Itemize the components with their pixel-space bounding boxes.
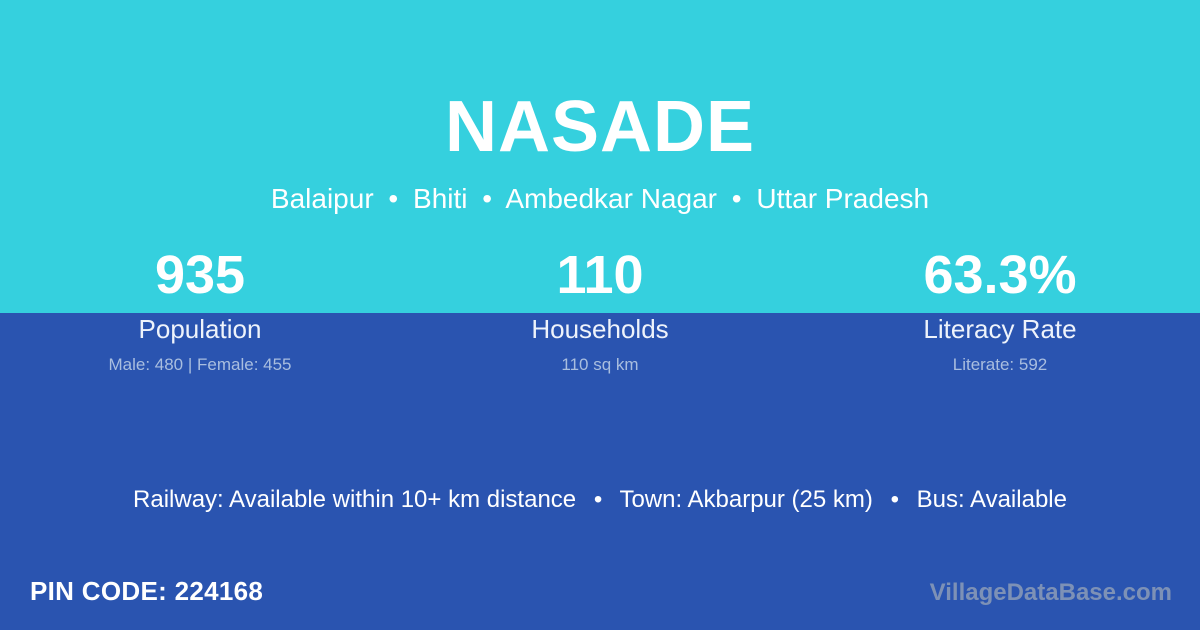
breadcrumb: Balaipur • Bhiti • Ambedkar Nagar • Utta…	[0, 182, 1200, 216]
amenity-bus: Bus: Available	[917, 486, 1067, 513]
stats-row: 935 Population Male: 480 | Female: 455 1…	[0, 243, 1200, 375]
amenity-railway: Railway: Available within 10+ km distanc…	[133, 486, 576, 513]
stat-literacy: 63.3% Literacy Rate Literate: 592	[800, 243, 1200, 375]
breadcrumb-separator-2: •	[475, 183, 499, 214]
amenity-town: Town: Akbarpur (25 km)	[619, 486, 872, 513]
stat-population-label: Population	[0, 314, 400, 344]
stat-population-value: 935	[0, 243, 400, 307]
village-info-card: NASADE Balaipur • Bhiti • Ambedkar Nagar…	[0, 0, 1200, 630]
stat-households-sub: 110 sq km	[400, 354, 800, 375]
amenities-line: Railway: Available within 10+ km distanc…	[0, 485, 1200, 515]
page-title: NASADE	[0, 82, 1200, 172]
breadcrumb-state: Uttar Pradesh	[756, 183, 929, 214]
stat-literacy-label: Literacy Rate	[800, 314, 1200, 344]
breadcrumb-block: Bhiti	[413, 183, 467, 214]
stat-population-sub: Male: 480 | Female: 455	[0, 354, 400, 375]
stat-population: 935 Population Male: 480 | Female: 455	[0, 243, 400, 375]
amenity-separator-2: •	[880, 486, 910, 513]
breadcrumb-separator-3: •	[725, 183, 749, 214]
stat-literacy-sub: Literate: 592	[800, 354, 1200, 375]
site-brand: VillageDataBase.com	[930, 578, 1172, 608]
breadcrumb-district: Ambedkar Nagar	[505, 183, 717, 214]
stat-literacy-value: 63.3%	[800, 243, 1200, 307]
stat-households: 110 Households 110 sq km	[400, 243, 800, 375]
breadcrumb-separator-1: •	[381, 183, 405, 214]
pin-code: PIN CODE: 224168	[30, 576, 263, 606]
breadcrumb-panchayat: Balaipur	[271, 183, 374, 214]
stat-households-label: Households	[400, 314, 800, 344]
amenity-separator-1: •	[583, 486, 613, 513]
stat-households-value: 110	[400, 243, 800, 307]
